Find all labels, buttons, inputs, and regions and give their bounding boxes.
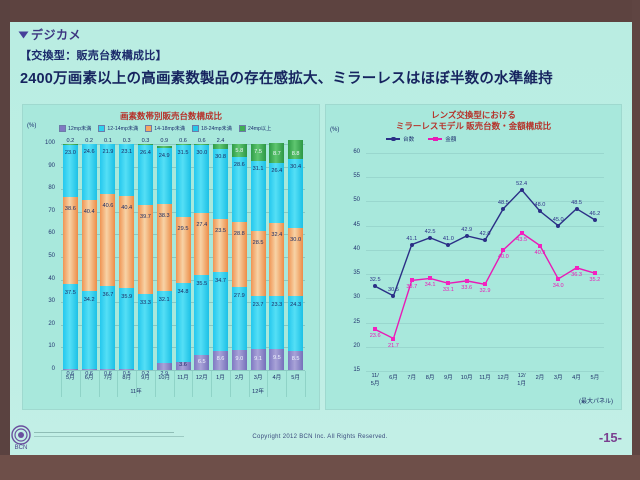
- left-chart-title: 画素数帯別販売台数構成比: [23, 110, 319, 122]
- data-point-label: 41.1: [406, 236, 417, 242]
- bar-value-label: 27.9: [234, 293, 245, 299]
- bar-value-label: 24.3: [290, 302, 301, 308]
- data-point: [575, 207, 579, 211]
- y-axis-tick: 20: [344, 343, 360, 349]
- data-point: [428, 236, 432, 240]
- bar-value-label: 34.7: [215, 278, 226, 284]
- x-axis-tick: 12/1月: [513, 373, 531, 387]
- stacked-bar: [63, 144, 78, 370]
- bar-value-label: 38.6: [65, 206, 76, 212]
- x-axis-separator: [286, 371, 287, 397]
- bar-value-label: 9.0: [235, 356, 243, 362]
- bar-value-label: 40.4: [84, 209, 95, 215]
- x-axis-tick: 11月: [174, 373, 192, 381]
- data-point-label: 34.0: [553, 283, 564, 289]
- data-point-label: 48.0: [534, 202, 545, 208]
- x-axis-separator: [211, 371, 212, 397]
- bar-segment: [100, 286, 115, 369]
- bar-value-label: 37.5: [65, 290, 76, 296]
- data-point-label: 46.2: [589, 211, 600, 217]
- data-point: [520, 231, 524, 235]
- bar-segment: [82, 369, 97, 370]
- data-point-label: 33.6: [461, 285, 472, 291]
- bar-value-label: 2.4: [217, 138, 225, 144]
- bar-value-label: 30.4: [290, 164, 301, 170]
- bar-value-label: 8.5: [292, 356, 300, 362]
- bar-value-label: 0.1: [104, 138, 112, 144]
- bar-value-label: 27.4: [196, 222, 207, 228]
- bar-value-label: 23.7: [253, 302, 264, 308]
- bar-segment: [100, 369, 115, 370]
- bar-value-label: 5.8: [235, 148, 243, 154]
- y-axis-tick: 60: [39, 230, 55, 236]
- slide-header: デジカメ 【交換型：販売台数構成比】 2400万画素以上の高画素数製品の存在感拡…: [20, 26, 553, 88]
- x-axis-tick: 7月: [403, 373, 421, 381]
- page-number: -15-: [599, 430, 622, 445]
- bar-value-label: 28.8: [234, 231, 245, 237]
- y-axis-tick: 45: [344, 222, 360, 228]
- left-chart-panel: 画素数帯別販売台数構成比 (%) 12mp未満12-14mp未満14-18mp未…: [22, 104, 320, 410]
- data-point: [410, 278, 414, 282]
- data-point: [391, 337, 395, 341]
- x-axis-tick: 11月: [476, 373, 494, 381]
- bar-segment: [157, 363, 172, 370]
- y-axis-tick: 55: [344, 173, 360, 179]
- stacked-bar: [82, 144, 97, 370]
- data-point-label: 48.5: [571, 200, 582, 206]
- bar-value-label: 28.5: [253, 240, 264, 246]
- legend-label: 台数: [403, 135, 414, 143]
- legend-line-icon: [428, 138, 442, 140]
- stacked-bar: [288, 144, 303, 370]
- x-axis-tick: 9月: [439, 373, 457, 381]
- x-axis-tick: 2月: [531, 373, 549, 381]
- x-axis-tick: 6月: [384, 373, 402, 381]
- x-axis-tick: 11/5月: [366, 373, 384, 387]
- x-axis-separator: [61, 371, 62, 397]
- legend-label: 12-14mp未満: [107, 125, 138, 132]
- x-axis-tick: 7月: [99, 373, 117, 381]
- right-chart-note: (最大パネル): [579, 396, 613, 405]
- data-point-label: 30.5: [388, 287, 399, 293]
- data-point: [556, 277, 560, 281]
- left-chart-x-axis: 5月6月7月8月9月10月11月12月1月2月3月4月5月11年12年: [61, 371, 305, 401]
- bar-value-label: 26.4: [140, 150, 151, 156]
- legend-label: 24mp以上: [248, 125, 271, 132]
- x-axis-tick: 4月: [268, 373, 286, 381]
- y-axis-tick: 35: [344, 270, 360, 276]
- y-axis-tick: 20: [39, 321, 55, 327]
- y-axis-tick: 10: [39, 343, 55, 349]
- data-point: [465, 234, 469, 238]
- copyright-text: Copyright 2012 BCN Inc. All Rights Reser…: [252, 434, 387, 440]
- x-axis-tick: 10月: [155, 373, 173, 381]
- y-axis-tick: 50: [344, 197, 360, 203]
- data-point-label: 42.9: [461, 227, 472, 233]
- bar-value-label: 9.5: [273, 355, 281, 361]
- bar-value-label: 9.1: [254, 356, 262, 362]
- data-point-label: 32.9: [480, 288, 491, 294]
- data-point-label: 36.3: [571, 272, 582, 278]
- data-point-label: 41.0: [443, 236, 454, 242]
- legend-item-4: 24mp以上: [239, 125, 271, 132]
- data-point-label: 33.1: [443, 287, 454, 293]
- data-point-label: 40.9: [534, 250, 545, 256]
- data-point: [428, 276, 432, 280]
- left-chart-unit-label: (%): [27, 123, 36, 129]
- right-chart-title-line1: レンズ交換型における: [326, 110, 621, 121]
- bar-value-label: 0.3: [142, 138, 150, 144]
- bar-value-label: 36.7: [102, 292, 113, 298]
- y-axis-tick: 30: [344, 294, 360, 300]
- bar-value-label: 21.9: [102, 149, 113, 155]
- projection-frame-left: [0, 0, 10, 480]
- x-axis-separator: [305, 371, 306, 397]
- bar-value-label: 0.6: [198, 138, 206, 144]
- bar-value-label: 40.6: [102, 203, 113, 209]
- x-axis-year-label: 11年: [116, 387, 156, 395]
- data-point-label: 33.7: [406, 284, 417, 290]
- data-point-label: 23.6: [370, 333, 381, 339]
- stacked-bar: [138, 144, 153, 370]
- x-axis-tick: 5月: [287, 373, 305, 381]
- x-axis-year-label: 12年: [238, 387, 278, 395]
- data-point-label: 21.7: [388, 343, 399, 349]
- bar-value-label: 0.2: [85, 138, 93, 144]
- bar-value-label: 35.5: [196, 281, 207, 287]
- y-axis-tick: 50: [39, 253, 55, 259]
- legend-swatch-icon: [192, 125, 199, 132]
- data-point-label: 45.0: [553, 217, 564, 223]
- data-point-label: 42.0: [480, 231, 491, 237]
- y-axis-tick: 80: [39, 185, 55, 191]
- bar-segment: [138, 144, 153, 145]
- x-axis-tick: 5月: [586, 373, 604, 381]
- data-point-label: 52.4: [516, 181, 527, 187]
- bar-segment: [213, 219, 228, 272]
- bar-value-label: 26.4: [271, 168, 282, 174]
- bar-value-label: 23.3: [271, 302, 282, 308]
- y-axis-tick: 100: [39, 140, 55, 146]
- data-point: [373, 327, 377, 331]
- data-point: [575, 266, 579, 270]
- bar-segment: [176, 144, 191, 145]
- bar-value-label: 39.7: [140, 214, 151, 220]
- bar-value-label: 0.2: [66, 138, 74, 144]
- x-axis-separator: [192, 371, 193, 397]
- data-point: [483, 282, 487, 286]
- legend-label: 14-18mp未満: [154, 125, 185, 132]
- legend-line-icon: [386, 138, 400, 140]
- bar-value-label: 6.5: [198, 359, 206, 365]
- left-chart-legend: 12mp未満12-14mp未満14-18mp未満18-24mp未満24mp以上: [59, 125, 271, 132]
- y-axis-tick: 0: [39, 366, 55, 372]
- x-axis-separator: [80, 371, 81, 397]
- y-axis-tick: 60: [344, 149, 360, 155]
- slide-canvas: デジカメ 【交換型：販売台数構成比】 2400万画素以上の高画素数製品の存在感拡…: [0, 0, 640, 480]
- bar-segment: [63, 284, 78, 369]
- legend-item-1: 金額: [428, 135, 456, 143]
- bar-value-label: 32.1: [159, 297, 170, 303]
- data-point: [446, 281, 450, 285]
- footer-rule-1: [34, 432, 174, 433]
- section-title: デジカメ: [31, 26, 81, 43]
- stacked-bar: [119, 144, 134, 370]
- legend-label: 12mp未満: [68, 125, 91, 132]
- stacked-bar: [251, 144, 266, 370]
- data-point-label: 35.2: [589, 277, 600, 283]
- legend-swatch-icon: [145, 125, 152, 132]
- stacked-bar: [157, 144, 172, 370]
- bar-value-label: 34.2: [84, 297, 95, 303]
- bar-value-label: 30.0: [290, 237, 301, 243]
- legend-item-2: 14-18mp未満: [145, 125, 185, 132]
- bar-value-label: 28.6: [234, 162, 245, 168]
- data-point: [465, 279, 469, 283]
- bar-segment: [63, 369, 78, 370]
- data-point-label: 32.5: [370, 277, 381, 283]
- bar-value-label: 7.5: [254, 149, 262, 155]
- stacked-bar: [194, 144, 209, 370]
- legend-label: 18-24mp未満: [201, 125, 232, 132]
- bar-value-label: 8.6: [217, 356, 225, 362]
- data-point: [556, 224, 560, 228]
- y-axis-tick: 25: [344, 319, 360, 325]
- bar-segment: [157, 146, 172, 148]
- bar-value-label: 24.9: [159, 153, 170, 159]
- x-axis-separator: [230, 371, 231, 397]
- x-axis-tick: 3月: [549, 373, 567, 381]
- right-chart-x-axis: 11/5月6月7月8月9月10月11月12月12/1月2月3月4月5月: [366, 371, 604, 401]
- svg-text:BCN: BCN: [15, 445, 28, 450]
- bar-segment: [194, 275, 209, 355]
- legend-marker-icon: [433, 137, 438, 142]
- x-axis-tick: 3月: [249, 373, 267, 381]
- section-title-row: デジカメ: [20, 26, 553, 43]
- x-axis-tick: 9月: [136, 373, 154, 381]
- data-point: [520, 188, 524, 192]
- bar-value-label: 35.9: [121, 294, 132, 300]
- slide-subtitle: 【交換型：販売台数構成比】: [20, 47, 553, 63]
- bar-segment: [119, 369, 134, 370]
- bar-value-label: 32.4: [271, 232, 282, 238]
- bar-value-label: 23.5: [215, 228, 226, 234]
- legend-item-0: 台数: [386, 135, 414, 143]
- legend-swatch-icon: [98, 125, 105, 132]
- data-point-label: 34.1: [425, 282, 436, 288]
- right-chart-legend: 台数金額: [386, 135, 456, 143]
- right-chart-title: レンズ交換型における ミラーレスモデル 販売台数・金額構成比: [326, 110, 621, 132]
- bar-value-label: 23.1: [121, 149, 132, 155]
- stacked-bar: [100, 144, 115, 370]
- stacked-bar: [269, 144, 284, 370]
- projection-frame-bottom: [0, 455, 640, 480]
- left-chart-plot-area: 01020304050607080901000.637.538.623.00.2…: [61, 144, 305, 370]
- legend-swatch-icon: [239, 125, 246, 132]
- bcn-logo: BCN: [8, 424, 34, 450]
- x-axis-tick: 6月: [80, 373, 98, 381]
- stacked-bar: [176, 144, 191, 370]
- x-axis-tick: 5月: [61, 373, 79, 381]
- legend-item-0: 12mp未満: [59, 125, 91, 132]
- x-axis-tick: 8月: [421, 373, 439, 381]
- legend-marker-icon: [391, 137, 396, 142]
- bar-value-label: 0.6: [179, 138, 187, 144]
- bar-value-label: 3.6: [179, 362, 187, 368]
- x-axis-tick: 12月: [494, 373, 512, 381]
- data-point: [593, 218, 597, 222]
- bar-value-label: 30.0: [196, 150, 207, 156]
- y-axis-tick: 15: [344, 367, 360, 373]
- bar-value-label: 31.5: [178, 150, 189, 156]
- x-axis-separator: [99, 371, 100, 397]
- data-point-label: 43.5: [516, 237, 527, 243]
- bar-value-label: 29.5: [178, 226, 189, 232]
- bar-value-label: 24.6: [84, 149, 95, 155]
- bar-value-label: 31.1: [253, 166, 264, 172]
- legend-label: 金額: [445, 135, 456, 143]
- bar-value-label: 8.8: [292, 151, 300, 157]
- x-axis-tick: 8月: [118, 373, 136, 381]
- bar-value-label: 0.9: [160, 138, 168, 144]
- footer-rule-2: [34, 436, 184, 437]
- data-point-label: 42.5: [425, 229, 436, 235]
- bar-segment: [194, 144, 209, 145]
- stacked-bar: [213, 144, 228, 370]
- y-axis-tick: 40: [344, 246, 360, 252]
- data-point: [593, 271, 597, 275]
- y-axis-tick: 30: [39, 298, 55, 304]
- right-chart-panel: レンズ交換型における ミラーレスモデル 販売台数・金額構成比 (%) 台数金額 …: [325, 104, 622, 410]
- bar-value-label: 30.8: [215, 154, 226, 160]
- y-axis-tick: 90: [39, 163, 55, 169]
- right-chart-plot-area: 1520253035404550556032.530.541.142.541.0…: [366, 153, 604, 371]
- line-series-svg: [366, 153, 604, 371]
- bar-value-label: 23.0: [65, 150, 76, 156]
- bar-value-label: 8.7: [273, 151, 281, 157]
- right-chart-unit-label: (%): [330, 127, 339, 133]
- triangle-bullet-icon: [19, 31, 29, 38]
- slide-headline: 2400万画素以上の高画素数製品の存在感拡大、ミラーレスはほぼ半数の水準維持: [20, 67, 553, 88]
- x-axis-tick: 4月: [568, 373, 586, 381]
- bar-value-label: 34.8: [178, 289, 189, 295]
- data-point: [538, 244, 542, 248]
- legend-item-1: 12-14mp未満: [98, 125, 138, 132]
- projection-frame-right: [632, 0, 640, 480]
- x-axis-tick: 1月: [212, 373, 230, 381]
- data-point-label: 48.5: [498, 200, 509, 206]
- y-axis-tick: 40: [39, 276, 55, 282]
- x-axis-tick: 10月: [458, 373, 476, 381]
- x-axis-tick: 2月: [230, 373, 248, 381]
- legend-swatch-icon: [59, 125, 66, 132]
- stacked-bar: [232, 144, 247, 370]
- bar-value-label: 0.3: [123, 138, 131, 144]
- projection-frame-top: [0, 0, 640, 22]
- bar-segment: [213, 144, 228, 149]
- x-axis-separator: [174, 371, 175, 397]
- bar-segment: [119, 288, 134, 369]
- legend-item-3: 18-24mp未満: [192, 125, 232, 132]
- right-chart-title-line2: ミラーレスモデル 販売台数・金額構成比: [326, 121, 621, 132]
- data-point-label: 40.0: [498, 254, 509, 260]
- bar-value-label: 40.4: [121, 205, 132, 211]
- bar-value-label: 38.3: [159, 213, 170, 219]
- data-point: [410, 243, 414, 247]
- bar-value-label: 33.3: [140, 300, 151, 306]
- x-axis-tick: 12月: [193, 373, 211, 381]
- data-point: [501, 248, 505, 252]
- y-axis-tick: 70: [39, 208, 55, 214]
